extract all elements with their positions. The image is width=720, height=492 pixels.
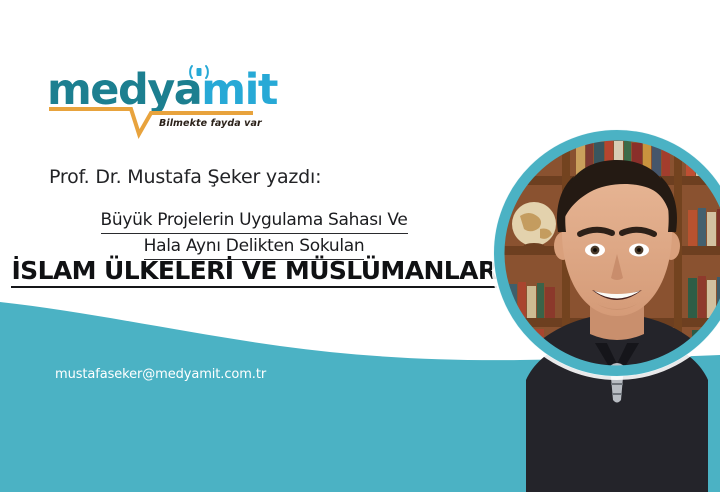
article-poster: medyamit Bilmekte fayda var Prof. Dr. Mu… bbox=[0, 0, 720, 492]
article-byline: Prof. Dr. Mustafa Şeker yazdı: bbox=[49, 166, 321, 188]
headline-main-text: İSLAM ÜLKELERİ VE MÜSLÜMANLAR bbox=[11, 256, 496, 288]
author-portrait bbox=[492, 128, 720, 492]
broadcast-antenna-icon bbox=[189, 64, 209, 80]
medyamit-logo[interactable]: medyamit Bilmekte fayda var bbox=[47, 68, 257, 140]
article-headline: İSLAM ÜLKELERİ VE MÜSLÜMANLAR bbox=[0, 256, 508, 288]
logo-tagline: Bilmekte fayda var bbox=[159, 118, 262, 129]
subheadline-line-1: Büyük Projelerin Uygulama Sahası Ve bbox=[101, 208, 408, 234]
author-email[interactable]: mustafaseker@medyamit.com.tr bbox=[55, 367, 266, 382]
article-subheadline: Büyük Projelerin Uygulama Sahası Ve Hala… bbox=[0, 208, 508, 260]
author-portrait-avatar bbox=[492, 128, 720, 492]
